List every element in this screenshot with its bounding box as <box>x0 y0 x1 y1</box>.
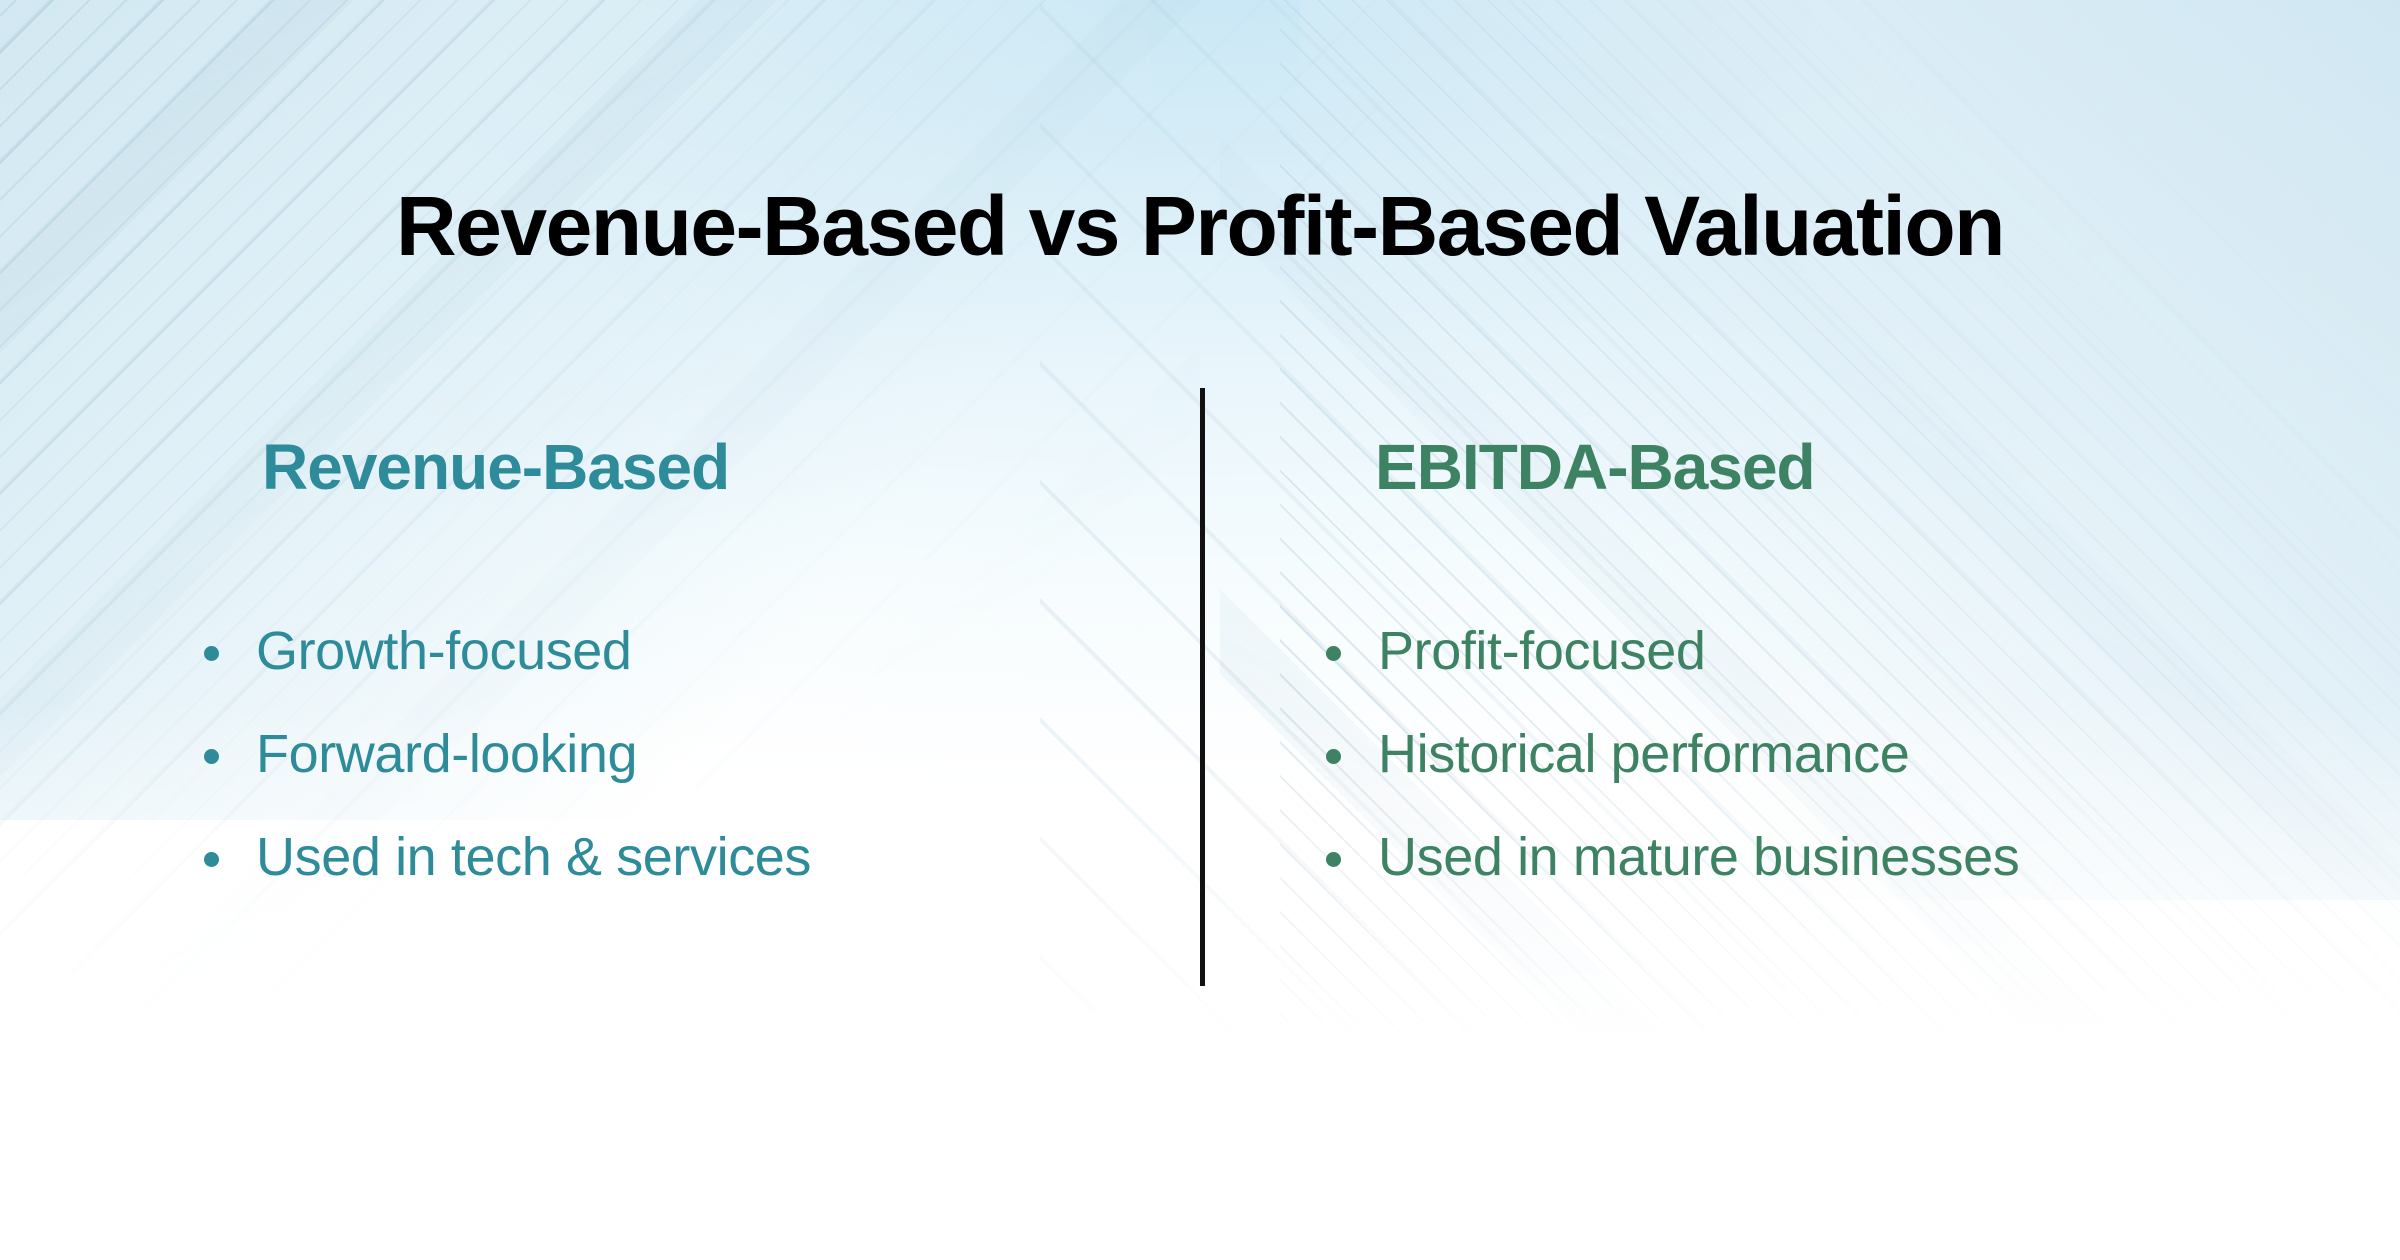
column-divider <box>1200 388 1205 986</box>
column-heading-ebitda-based: EBITDA-Based <box>1375 430 1815 504</box>
list-item: Historical performance <box>1320 703 2220 806</box>
list-item: Used in mature businesses <box>1320 806 2220 909</box>
bullet-text: Used in tech & services <box>256 827 811 887</box>
bullet-dot-icon <box>1326 749 1341 764</box>
bullet-text: Profit-focused <box>1378 621 1706 681</box>
bullet-dot-icon <box>1326 646 1341 661</box>
list-item: Profit-focused <box>1320 600 2220 703</box>
bullet-dot-icon <box>204 749 219 764</box>
list-item: Growth-focused <box>198 600 1158 703</box>
bullet-dot-icon <box>1326 852 1341 867</box>
bullet-text: Forward-looking <box>256 724 637 784</box>
bullet-dot-icon <box>204 646 219 661</box>
slide-content: Revenue-Based vs Profit-Based Valuation … <box>0 0 2400 1260</box>
bullet-list-revenue-based: Growth-focused Forward-looking Used in t… <box>198 600 1158 909</box>
list-item: Used in tech & services <box>198 806 1158 909</box>
bullet-text: Growth-focused <box>256 621 632 681</box>
column-heading-revenue-based: Revenue-Based <box>262 430 729 504</box>
bullet-dot-icon <box>204 852 219 867</box>
bullet-list-ebitda-based: Profit-focused Historical performance Us… <box>1320 600 2220 909</box>
slide-canvas: Revenue-Based vs Profit-Based Valuation … <box>0 0 2400 1260</box>
list-item: Forward-looking <box>198 703 1158 806</box>
slide-title: Revenue-Based vs Profit-Based Valuation <box>0 178 2400 275</box>
bullet-text: Historical performance <box>1378 724 1909 784</box>
bullet-text: Used in mature businesses <box>1378 827 2019 887</box>
